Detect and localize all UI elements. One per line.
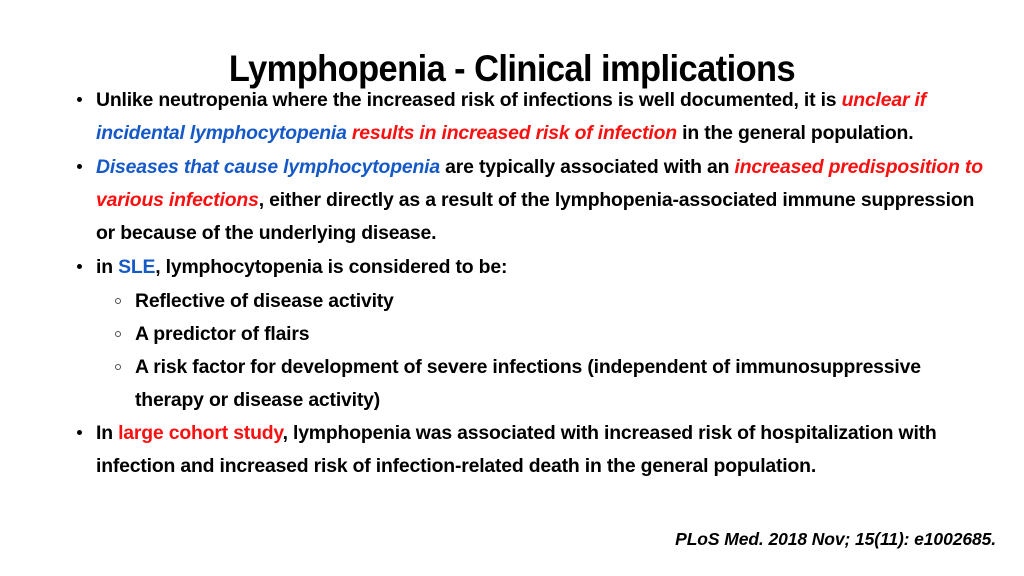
bullet-circle-icon	[115, 364, 121, 370]
run-text: Diseases that cause lymphocytopenia	[96, 156, 440, 178]
sub-bullet-text: Reflective of disease activity	[135, 290, 394, 312]
run-text: large cohort study	[118, 422, 282, 444]
sub-bullet-text: A risk factor for development of severe …	[135, 356, 921, 411]
run-text: in the general population.	[677, 122, 913, 144]
bullet-text: Unlike neutropenia where the increased r…	[96, 89, 926, 144]
source-citation: PLoS Med. 2018 Nov; 15(11): e1002685.	[675, 528, 996, 550]
run-text: SLE	[118, 256, 155, 278]
run-text: incidental lymphocytopenia	[96, 122, 352, 144]
bullet-text: In large cohort study, lymphopenia was a…	[96, 422, 937, 477]
bullet-text: in SLE, lymphocytopenia is considered to…	[96, 256, 507, 278]
run-text: are typically associated with an	[440, 156, 735, 178]
list-item: A predictor of flairs	[70, 318, 990, 351]
list-item: Reflective of disease activity	[70, 285, 990, 318]
bullet-dot-icon	[77, 164, 82, 169]
run-text: results in increased risk of infection	[352, 122, 677, 144]
sub-bullet-text: A predictor of flairs	[135, 323, 309, 345]
run-text: , lymphocytopenia is considered to be:	[155, 256, 507, 278]
bullet-circle-icon	[115, 331, 121, 337]
list-item: Diseases that cause lymphocytopenia are …	[70, 151, 990, 250]
bullet-text: Diseases that cause lymphocytopenia are …	[96, 156, 983, 244]
bullet-circle-icon	[115, 298, 121, 304]
run-text: Unlike neutropenia where the increased r…	[96, 89, 842, 111]
bullet-dot-icon	[77, 430, 82, 435]
bullet-dot-icon	[77, 264, 82, 269]
list-item: in SLE, lymphocytopenia is considered to…	[70, 251, 990, 284]
run-text: in	[96, 256, 118, 278]
slide-canvas: Lymphopenia - Clinical implications Unli…	[0, 0, 1024, 576]
run-text: In	[96, 422, 118, 444]
sub-bullet-list: Reflective of disease activity A predict…	[70, 285, 990, 417]
run-text: unclear if	[842, 89, 926, 111]
list-item: In large cohort study, lymphopenia was a…	[70, 417, 990, 483]
bullet-dot-icon	[77, 97, 82, 102]
list-item: A risk factor for development of severe …	[70, 351, 990, 417]
list-item: Unlike neutropenia where the increased r…	[70, 84, 990, 150]
bullet-list: Unlike neutropenia where the increased r…	[70, 84, 990, 484]
